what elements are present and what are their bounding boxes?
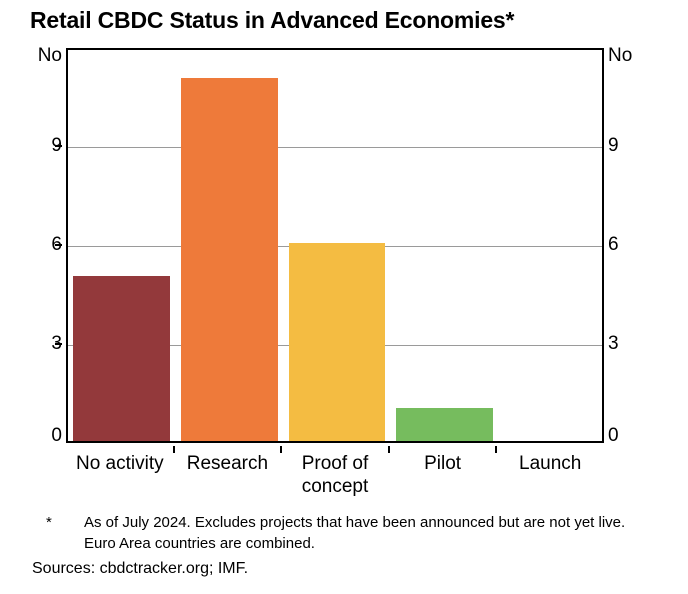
x-axis: No activityResearchProof ofconceptPilotL… xyxy=(66,446,604,502)
y-tick-mark-left-9 xyxy=(55,145,62,147)
x-axis-label-5: Launch xyxy=(496,452,604,475)
y-axis-left-unit-label: No xyxy=(38,46,62,65)
y-tick-mark-left-3 xyxy=(55,343,62,345)
y-axis-left: No 9 6 3 0 xyxy=(0,48,62,443)
chart-title: Retail CBDC Status in Advanced Economies… xyxy=(30,5,680,35)
x-tick-mark-3 xyxy=(388,446,390,453)
bar-series xyxy=(68,50,602,441)
y-axis-left-tick-0: 0 xyxy=(51,426,62,445)
x-axis-label-4: Pilot xyxy=(389,452,497,475)
x-axis-label-line1: Launch xyxy=(496,452,604,475)
bar-pilot xyxy=(396,408,493,441)
y-axis-right: No 9 6 3 0 xyxy=(608,48,686,443)
sources-line: Sources: cbdctracker.org; IMF. xyxy=(32,559,248,579)
x-axis-label-line2: concept xyxy=(281,475,389,498)
x-axis-label-3: Proof ofconcept xyxy=(281,452,389,498)
y-axis-right-tick-9: 9 xyxy=(608,136,619,155)
x-axis-label-2: Research xyxy=(174,452,282,475)
y-axis-right-tick-0: 0 xyxy=(608,426,619,445)
x-axis-label-line1: Pilot xyxy=(389,452,497,475)
bar-no-activity xyxy=(73,276,170,441)
x-tick-mark-1 xyxy=(173,446,175,453)
bar-research xyxy=(181,78,278,441)
bar-proof-of-concept xyxy=(289,243,386,441)
x-axis-label-line1: Proof of xyxy=(281,452,389,475)
footnote-marker: * xyxy=(46,512,52,533)
y-tick-mark-left-6 xyxy=(55,244,62,246)
x-axis-label-line1: Research xyxy=(174,452,282,475)
chart-figure: Retail CBDC Status in Advanced Economies… xyxy=(0,0,688,594)
plot-area xyxy=(66,48,604,443)
x-axis-label-1: No activity xyxy=(66,452,174,475)
x-tick-mark-4 xyxy=(495,446,497,453)
y-axis-right-tick-6: 6 xyxy=(608,235,619,254)
y-axis-right-unit-label: No xyxy=(608,46,632,65)
x-axis-label-line1: No activity xyxy=(66,452,174,475)
footnote-text: As of July 2024. Excludes projects that … xyxy=(84,512,654,554)
x-tick-mark-2 xyxy=(280,446,282,453)
y-axis-right-tick-3: 3 xyxy=(608,334,619,353)
